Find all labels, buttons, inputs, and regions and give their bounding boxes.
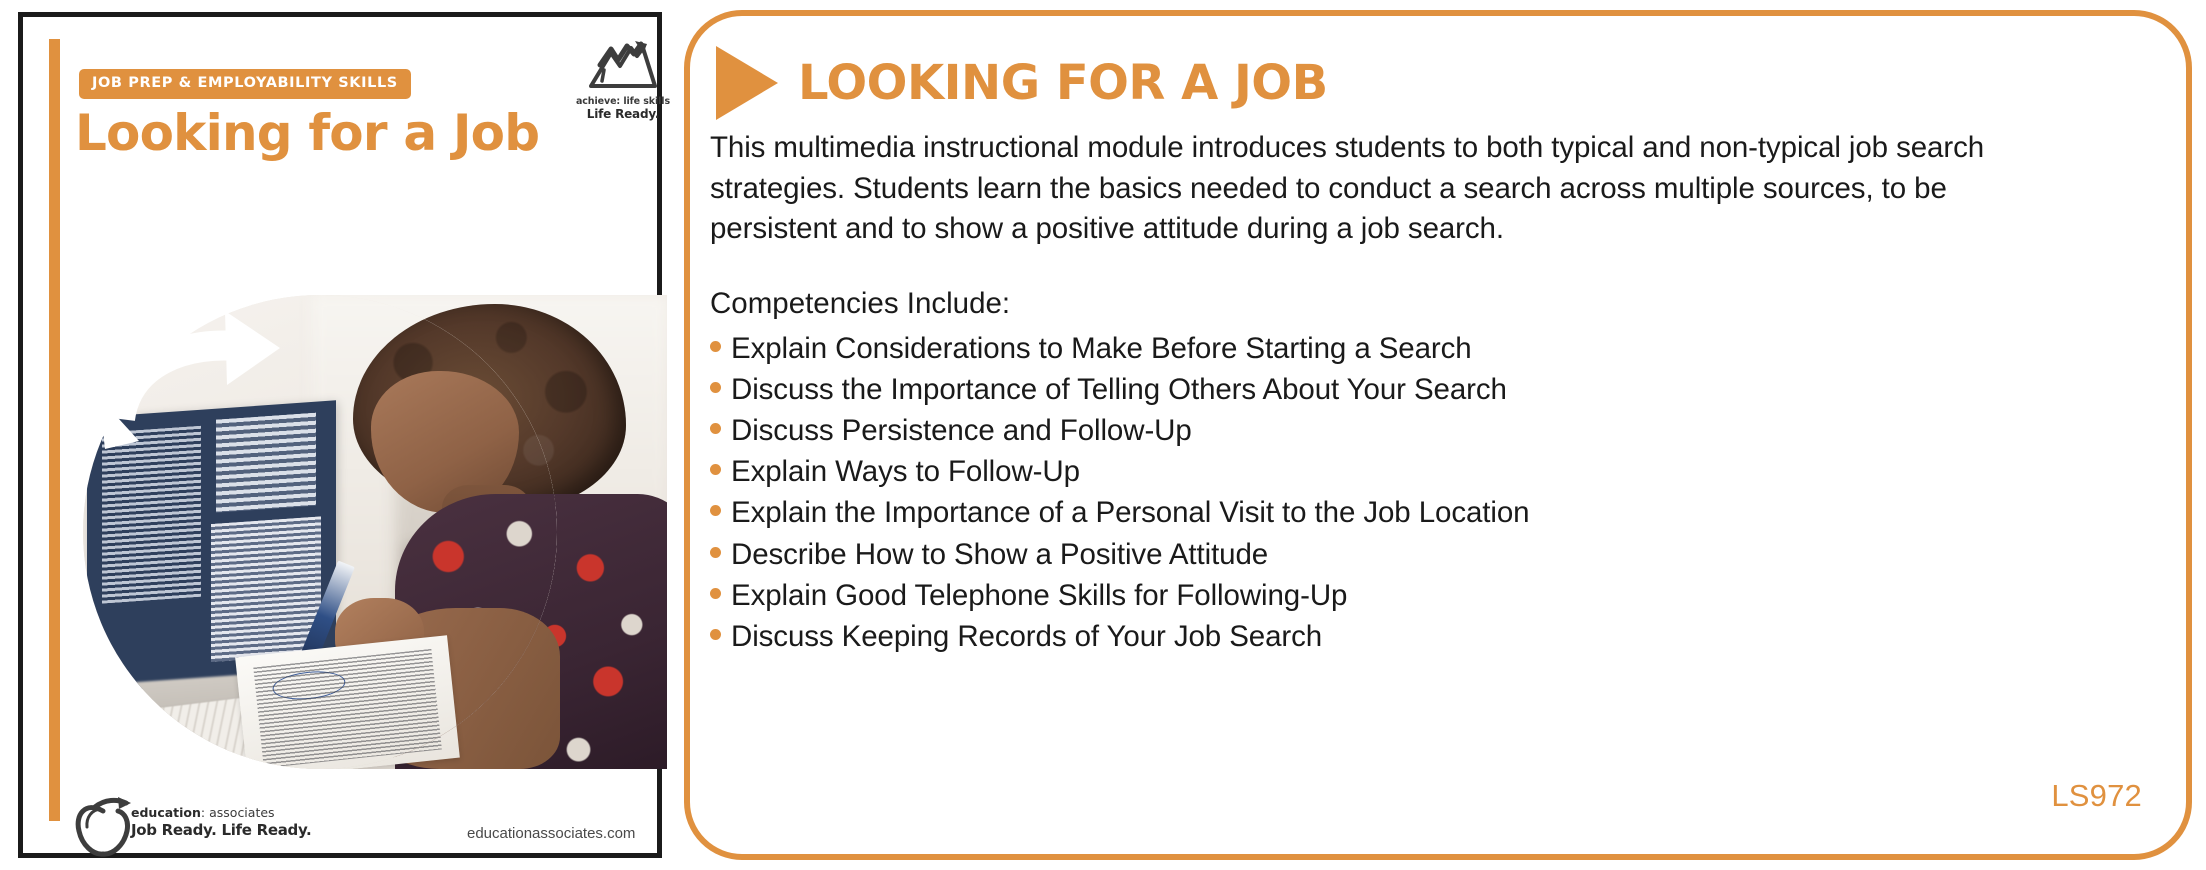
list-item-label: Discuss Persistence and Follow-Up: [731, 414, 1192, 449]
list-item: Discuss the Importance of Telling Others…: [710, 370, 2162, 411]
list-item-label: Discuss the Importance of Telling Others…: [731, 373, 1507, 408]
bullet-icon: [710, 629, 721, 640]
product-code: LS972: [2051, 778, 2142, 814]
course-cover-card: JOB PREP & EMPLOYABILITY SKILLS Looking …: [18, 12, 662, 858]
bullet-icon: [710, 505, 721, 516]
product-info-card: JOB PREP & EMPLOYABILITY SKILLS Looking …: [0, 0, 2206, 870]
ea-brand-name-bold: education: [131, 805, 201, 820]
cover-inner: JOB PREP & EMPLOYABILITY SKILLS Looking …: [79, 17, 647, 853]
bullet-icon: [710, 588, 721, 599]
bullet-icon: [710, 464, 721, 475]
cover-photo: [75, 295, 667, 772]
achieve-logo-line1: achieve: life skills: [563, 96, 683, 107]
achieve-logo-line2: Life Ready.: [563, 107, 683, 121]
list-item: Discuss Persistence and Follow-Up: [710, 411, 2162, 452]
education-associates-logo: education: associates Job Ready. Life Re…: [73, 797, 333, 859]
list-item: Explain the Importance of a Personal Vis…: [710, 493, 2162, 534]
bullet-icon: [710, 341, 721, 352]
bullet-icon: [710, 423, 721, 434]
list-item: Explain Considerations to Make Before St…: [710, 329, 2162, 370]
list-item-label: Discuss Keeping Records of Your Job Sear…: [731, 620, 1322, 655]
ea-tagline: Job Ready. Life Ready.: [131, 821, 311, 840]
list-item-label: Explain Good Telephone Skills for Follow…: [731, 579, 1347, 614]
list-item: Discuss Keeping Records of Your Job Sear…: [710, 617, 2162, 658]
cover-title: Looking for a Job: [75, 105, 539, 163]
info-body: This multimedia instructional module int…: [710, 128, 2162, 658]
cover-photo-circle-mask: [83, 295, 557, 769]
bullet-icon: [710, 382, 721, 393]
list-item-label: Describe How to Show a Positive Attitude: [731, 538, 1268, 573]
list-item-label: Explain Considerations to Make Before St…: [731, 332, 1472, 367]
competencies-heading: Competencies Include:: [710, 286, 2162, 321]
ea-brand-name-rest: : associates: [201, 805, 275, 820]
info-header: LOOKING FOR A JOB: [716, 46, 1328, 120]
ea-brand-name: education: associates: [131, 805, 311, 821]
list-item-label: Explain Ways to Follow-Up: [731, 455, 1080, 490]
module-description: This multimedia instructional module int…: [710, 128, 2050, 250]
list-item: Explain Ways to Follow-Up: [710, 452, 2162, 493]
mountain-chart-arrow-icon: [563, 39, 683, 93]
category-badge: JOB PREP & EMPLOYABILITY SKILLS: [79, 69, 411, 99]
competencies-list: Explain Considerations to Make Before St…: [710, 329, 2162, 658]
cover-accent-bar: [49, 39, 60, 821]
module-title: LOOKING FOR A JOB: [798, 59, 1328, 107]
cover-website-url: educationassociates.com: [467, 825, 635, 842]
play-triangle-icon: [716, 46, 778, 120]
list-item-label: Explain the Importance of a Personal Vis…: [731, 496, 1529, 531]
list-item: Describe How to Show a Positive Attitude: [710, 534, 2162, 575]
list-item: Explain Good Telephone Skills for Follow…: [710, 576, 2162, 617]
module-info-panel: LOOKING FOR A JOB This multimedia instru…: [684, 10, 2192, 860]
bullet-icon: [710, 547, 721, 558]
achieve-brand-logo: achieve: life skills Life Ready.: [563, 39, 683, 122]
